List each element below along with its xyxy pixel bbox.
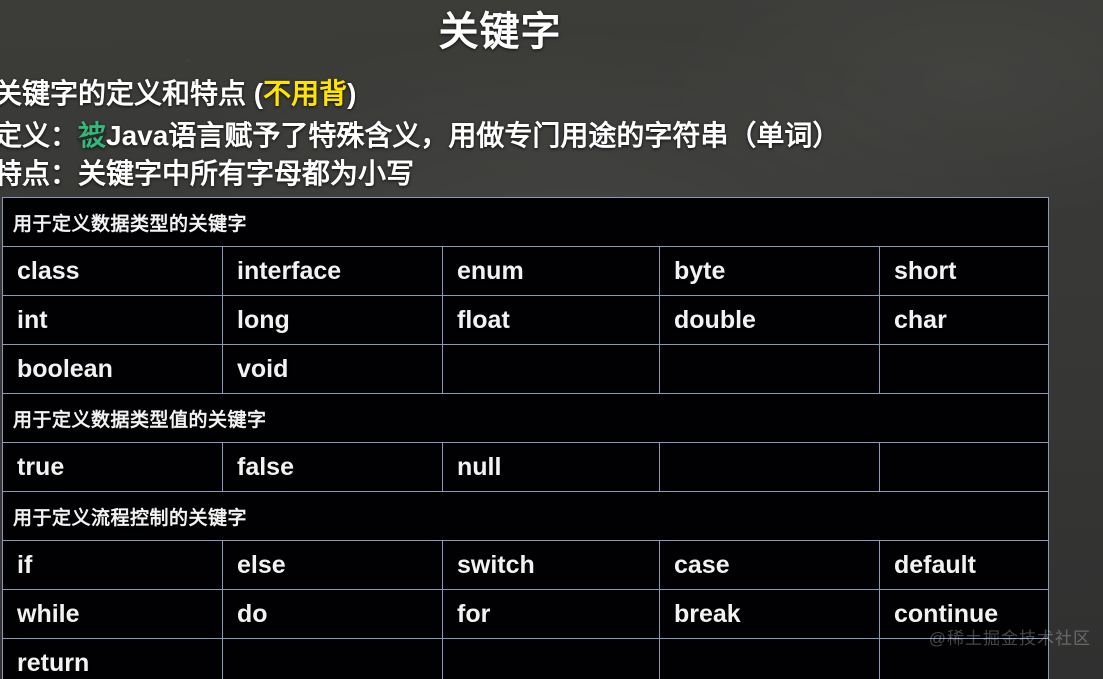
table-section-row: 用于定义流程控制的关键字	[3, 492, 1049, 541]
table-row: classinterfaceenumbyteshort	[3, 247, 1049, 296]
keyword-table-body: 用于定义数据类型的关键字classinterfaceenumbyteshorti…	[3, 198, 1049, 679]
table-row: booleanvoid	[3, 345, 1049, 394]
definition-text: Java语言赋予了特殊含义，用做专门用途的字符串（单词）	[106, 120, 840, 151]
table-row: truefalsenull	[3, 443, 1049, 492]
empty-cell	[443, 639, 660, 679]
keyword-cell: default	[880, 541, 1049, 590]
keyword-cell: return	[3, 639, 223, 679]
keyword-cell: null	[443, 443, 660, 492]
keyword-table: 用于定义数据类型的关键字classinterfaceenumbyteshorti…	[2, 197, 1049, 679]
feature-line: 特点：关键字中所有字母都为小写	[0, 152, 414, 192]
keyword-cell: char	[880, 296, 1049, 345]
keyword-cell: enum	[443, 247, 660, 296]
keyword-cell: break	[660, 590, 880, 639]
keyword-cell: double	[660, 296, 880, 345]
page-title: 关键字	[0, 6, 1000, 58]
empty-cell	[880, 639, 1049, 679]
definition-heading-prefix: 关键字的定义和特点 (	[0, 78, 263, 109]
definition-heading-suffix: )	[347, 78, 356, 109]
empty-cell	[880, 443, 1049, 492]
feature-text: 特点：关键字中所有字母都为小写	[0, 158, 414, 189]
definition-label: 定义：	[0, 120, 78, 151]
keyword-cell: continue	[880, 590, 1049, 639]
keyword-cell: true	[3, 443, 223, 492]
empty-cell	[660, 345, 880, 394]
keyword-cell: for	[443, 590, 660, 639]
table-section-title: 用于定义数据类型值的关键字	[3, 394, 1049, 443]
keyword-cell: else	[223, 541, 443, 590]
table-section-title: 用于定义流程控制的关键字	[3, 492, 1049, 541]
table-section-title: 用于定义数据类型的关键字	[3, 198, 1049, 247]
keyword-cell: false	[223, 443, 443, 492]
table-row: whiledoforbreakcontinue	[3, 590, 1049, 639]
keyword-cell: long	[223, 296, 443, 345]
table-row: intlongfloatdoublechar	[3, 296, 1049, 345]
keyword-cell: byte	[660, 247, 880, 296]
struck-character: 被	[78, 114, 106, 154]
empty-cell	[223, 639, 443, 679]
keyword-cell: interface	[223, 247, 443, 296]
table-section-row: 用于定义数据类型的关键字	[3, 198, 1049, 247]
keyword-cell: int	[3, 296, 223, 345]
table-row: return	[3, 639, 1049, 679]
keyword-cell: boolean	[3, 345, 223, 394]
keyword-cell: if	[3, 541, 223, 590]
definition-line: 定义：被Java语言赋予了特殊含义，用做专门用途的字符串（单词）	[0, 114, 840, 154]
empty-cell	[660, 639, 880, 679]
keyword-cell: short	[880, 247, 1049, 296]
empty-cell	[660, 443, 880, 492]
table-row: ifelseswitchcasedefault	[3, 541, 1049, 590]
empty-cell	[880, 345, 1049, 394]
slide-canvas: 关键字 关键字的定义和特点 (不用背) 定义：被Java语言赋予了特殊含义，用做…	[0, 0, 1103, 679]
empty-cell	[443, 345, 660, 394]
keyword-cell: switch	[443, 541, 660, 590]
keyword-cell: class	[3, 247, 223, 296]
keyword-cell: do	[223, 590, 443, 639]
definition-heading: 关键字的定义和特点 (不用背)	[0, 72, 356, 112]
keyword-cell: while	[3, 590, 223, 639]
keyword-cell: void	[223, 345, 443, 394]
definition-heading-highlight: 不用背	[263, 78, 347, 109]
keyword-cell: case	[660, 541, 880, 590]
table-section-row: 用于定义数据类型值的关键字	[3, 394, 1049, 443]
keyword-cell: float	[443, 296, 660, 345]
